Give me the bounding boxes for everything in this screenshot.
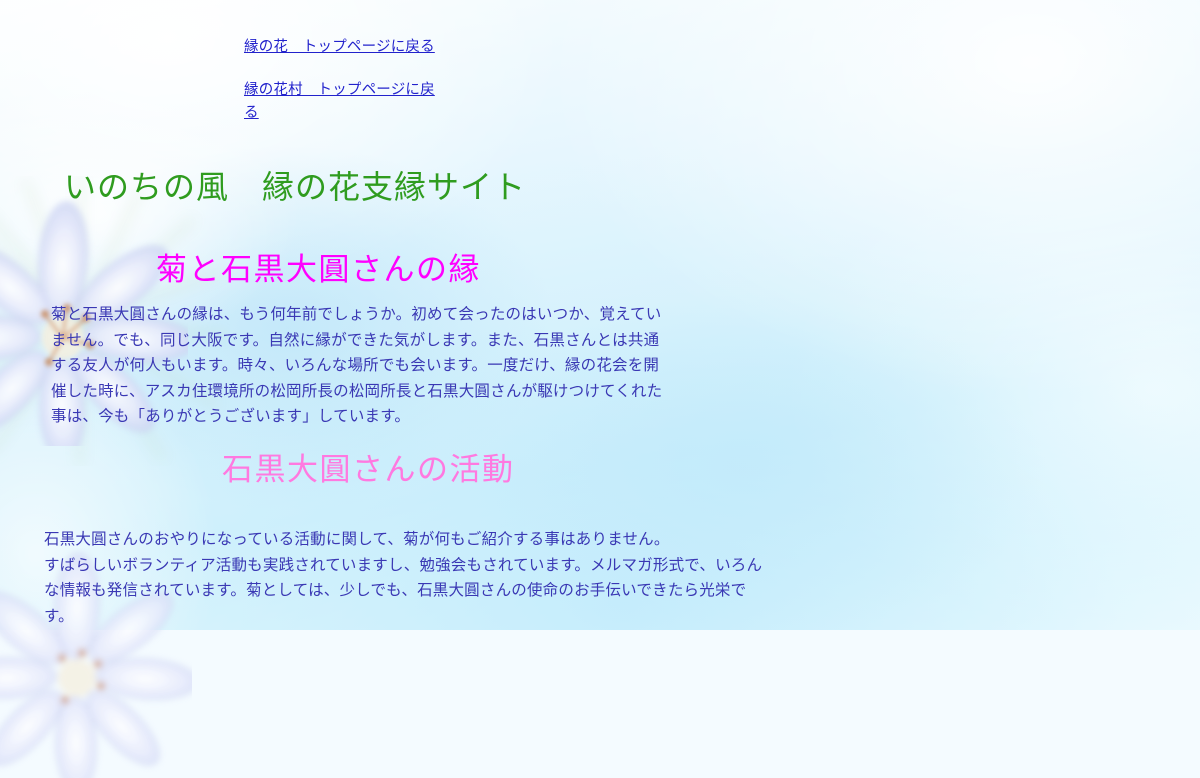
section-body-kiku-to-ishiguro: 菊と石黒大圓さんの縁は、もう何年前でしょうか。初めて会ったのはいつか、覚えていま… <box>51 302 671 430</box>
nav-links: 縁の花 トップページに戻る 縁の花村 トップページに戻る <box>244 36 449 125</box>
site-title: いのちの風 縁の花支縁サイト <box>64 168 526 206</box>
section-heading-kiku-to-ishiguro: 菊と石黒大圓さんの縁 <box>156 252 481 288</box>
link-back-to-enno-hana-top[interactable]: 縁の花 トップページに戻る <box>244 36 449 59</box>
section-body-ishiguro-activities: 石黒大圓さんのおやりになっている活動に関して、菊が何もご紹介する事はありません。… <box>44 527 774 629</box>
page-root: 縁の花 トップページに戻る 縁の花村 トップページに戻る いのちの風 縁の花支縁… <box>0 0 1200 630</box>
link-back-to-enno-hanamura-top[interactable]: 縁の花村 トップページに戻る <box>244 79 449 125</box>
section-heading-ishiguro-activities: 石黒大圓さんの活動 <box>222 452 515 488</box>
